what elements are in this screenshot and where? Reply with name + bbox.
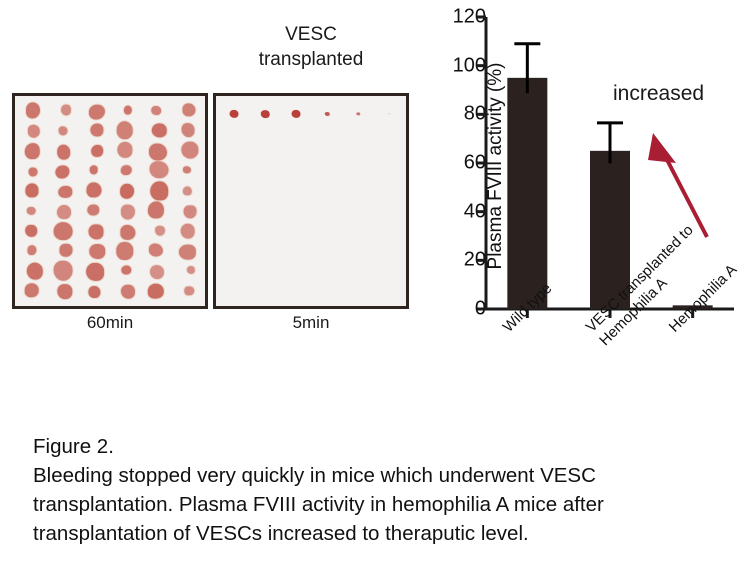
blot-spot <box>155 226 165 236</box>
blot-spot <box>151 106 161 116</box>
blot-spot <box>151 181 169 200</box>
blot-spot <box>124 106 132 115</box>
blot-spot <box>120 184 134 199</box>
blot-spot <box>28 245 37 255</box>
vesc-transplanted-title: VESC transplanted <box>213 22 409 72</box>
blot-spot <box>183 187 191 196</box>
blot-spot <box>54 222 73 240</box>
blot-spot <box>121 165 131 175</box>
blot-spot <box>150 265 164 279</box>
blot-spot <box>116 122 133 139</box>
blot-spot <box>25 184 38 197</box>
blot-spot <box>150 161 169 179</box>
blot-spot <box>122 266 131 275</box>
blot-spot <box>148 283 164 298</box>
blot-spot <box>61 105 71 116</box>
figure-caption: Figure 2. Bleeding stopped very quickly … <box>33 432 723 548</box>
blot-spots-5min <box>216 96 406 306</box>
blot-spot <box>121 284 135 298</box>
blot-spot <box>27 207 36 215</box>
increase-arrow <box>648 133 707 237</box>
blot-spot <box>88 224 103 239</box>
blot-spot <box>179 245 195 260</box>
blot-panel-60min <box>12 93 208 309</box>
blot-spot <box>187 266 195 274</box>
blot-spot <box>89 244 105 258</box>
blot-spot <box>148 201 164 218</box>
blot-spot <box>90 124 103 137</box>
figure-caption-text: Bleeding stopped very quickly in mice wh… <box>33 461 723 548</box>
blot-spot <box>28 168 37 177</box>
blot-panel-5min <box>213 93 409 309</box>
blot-spot <box>57 144 71 159</box>
blot-spot <box>116 242 133 260</box>
blot-spot <box>149 144 167 161</box>
blot-spot <box>388 113 390 114</box>
blot-spot <box>87 183 102 198</box>
blot-spot <box>88 204 99 215</box>
blot-spot <box>89 286 100 298</box>
blot-spot <box>261 110 270 118</box>
blot-spot <box>26 103 40 118</box>
blot-spot <box>180 224 195 239</box>
blot-spots-60min <box>15 96 205 306</box>
blot-spot <box>56 166 69 179</box>
blot-spot <box>59 186 72 198</box>
blot-spot <box>183 166 191 173</box>
blot-spot <box>185 286 194 295</box>
bar-chart: Plasma FVIII activity (%) 02040608010012… <box>420 0 742 430</box>
blot-spot <box>183 205 196 218</box>
blot-spot <box>182 123 195 137</box>
increased-annotation-label: increased <box>613 82 704 106</box>
blot-spot <box>117 142 132 158</box>
bar <box>507 78 547 309</box>
blot-spot <box>152 124 167 137</box>
vesc-title-line1: VESC <box>285 24 337 45</box>
blot-spot <box>57 205 71 219</box>
blot-spot <box>292 110 301 118</box>
chart-canvas <box>420 0 742 430</box>
blot-label-60min: 60min <box>12 313 208 333</box>
blot-figure-panels: VESC transplanted 60min 5min <box>0 0 420 350</box>
arrow-head <box>648 133 676 163</box>
blot-label-5min: 5min <box>213 313 409 333</box>
blot-spot <box>89 105 105 120</box>
blot-spot <box>120 225 135 239</box>
blot-spot <box>60 244 73 257</box>
blot-spot <box>25 143 40 159</box>
blot-spot <box>24 283 39 297</box>
blot-spot <box>181 141 198 158</box>
blot-spot <box>26 225 38 237</box>
blot-spot <box>89 166 98 175</box>
vesc-title-line2: transplanted <box>259 49 364 70</box>
blot-spot <box>28 125 40 138</box>
figure-number: Figure 2. <box>33 432 723 461</box>
blot-spot <box>91 145 103 157</box>
blot-spot <box>356 112 360 115</box>
blot-spot <box>183 103 196 116</box>
blot-spot <box>57 284 72 300</box>
blot-spot <box>149 243 163 256</box>
blot-spot <box>325 112 330 116</box>
blot-spot <box>27 263 43 280</box>
blot-spot <box>121 205 135 220</box>
blot-spot <box>230 110 239 118</box>
blot-spot <box>53 260 72 280</box>
blot-spot <box>86 262 104 280</box>
blot-spot <box>59 126 68 135</box>
